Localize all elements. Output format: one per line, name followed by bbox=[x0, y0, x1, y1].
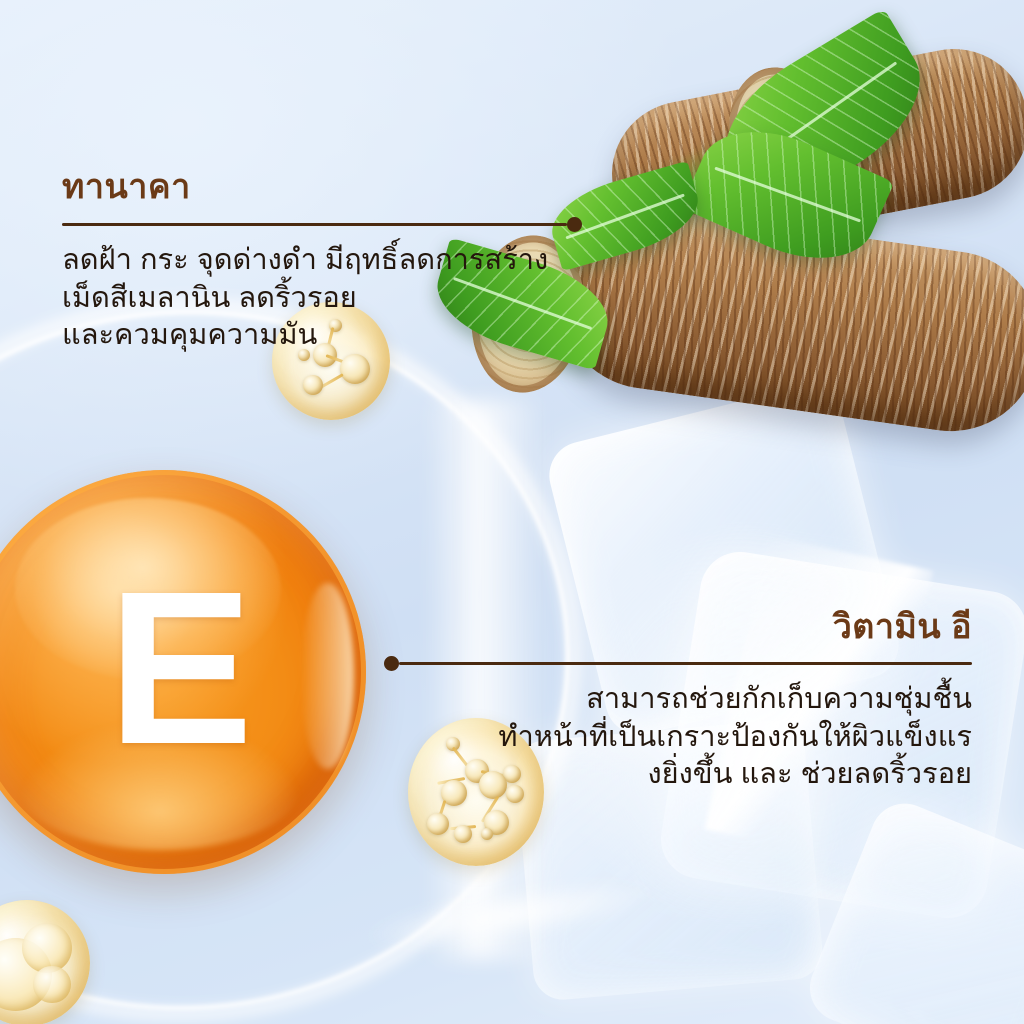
molecule-atom bbox=[340, 354, 370, 384]
molecule-atom bbox=[303, 375, 323, 395]
thanaka-divider bbox=[62, 217, 582, 232]
vitamin-e-capsule-icon: E bbox=[0, 470, 366, 874]
divider-start-dot bbox=[384, 656, 399, 671]
divider-end-dot bbox=[567, 217, 582, 232]
vitamin-letter: E bbox=[0, 470, 366, 874]
molecule-atom bbox=[481, 828, 493, 840]
infographic-canvas: E bbox=[0, 0, 1024, 1024]
divider-line bbox=[62, 223, 567, 226]
droplet-inner-bubble bbox=[33, 966, 71, 1004]
vitamin-e-heading: วิตามิน อี bbox=[384, 608, 972, 647]
divider-line bbox=[399, 662, 972, 665]
vitamin-e-divider bbox=[384, 656, 972, 671]
thanaka-body-text: ลดฝ้า กระ จุดด่างดำ มีฤทธิ์ลดการสร้าง เม… bbox=[62, 242, 582, 355]
thanaka-heading: ทานาคา bbox=[62, 168, 582, 207]
molecule-atom bbox=[454, 825, 472, 843]
molecule-atom bbox=[427, 813, 449, 835]
vitamin-e-body-text: สามารถช่วยกักเก็บความชุ่มชื้น ทำหน้าที่เ… bbox=[384, 681, 972, 794]
vitamin-e-text-block: วิตามิน อี สามารถช่วยกักเก็บความชุ่มชื้น… bbox=[384, 608, 972, 794]
thanaka-text-block: ทานาคา ลดฝ้า กระ จุดด่างดำ มีฤทธิ์ลดการส… bbox=[62, 168, 582, 355]
